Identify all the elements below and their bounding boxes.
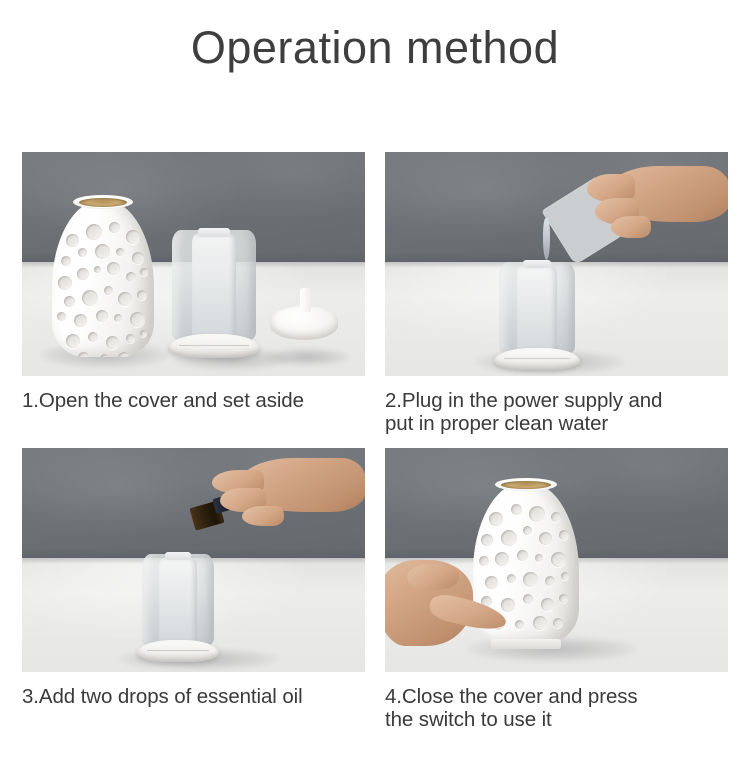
step-caption-3: 3.Add two drops of essential oil <box>22 672 365 709</box>
tank-inner-column <box>517 266 557 352</box>
hand <box>208 454 365 540</box>
step-cell-2: 2.Plug in the power supply and put in pr… <box>385 152 728 436</box>
step-photo-3 <box>22 448 365 672</box>
step-photo-1 <box>22 152 365 376</box>
water-tank <box>170 224 258 356</box>
tank-base <box>137 640 219 662</box>
tank-handle-tab <box>165 552 191 560</box>
step-cell-3: 3.Add two drops of essential oil <box>22 448 365 732</box>
step-cell-4: 4.Close the cover and press the switch t… <box>385 448 728 732</box>
step-caption-1: 1.Open the cover and set aside <box>22 376 365 413</box>
cover-body <box>52 200 154 357</box>
page-title: Operation method <box>0 0 750 73</box>
step-photo-4 <box>385 448 728 672</box>
cap-shadow <box>264 348 350 366</box>
finger-middle <box>611 216 651 238</box>
cover-gold-rim <box>79 198 127 207</box>
step-caption-4: 4.Close the cover and press the switch t… <box>385 672 728 732</box>
finger-middle <box>242 506 284 526</box>
tank-base <box>168 334 260 358</box>
steps-grid: 1.Open the cover and set aside <box>22 152 728 732</box>
mist-cap <box>270 288 338 342</box>
cover-gold-rim <box>501 481 551 489</box>
tank-inner-column <box>159 558 197 644</box>
tank-base <box>494 348 580 370</box>
tank-handle-tab <box>198 228 230 237</box>
cover-dot-pattern <box>52 200 154 357</box>
mist-cap-spout <box>300 288 311 312</box>
hand <box>385 548 527 652</box>
hand <box>581 160 728 256</box>
ceramic-cover <box>52 200 154 357</box>
step-cell-1: 1.Open the cover and set aside <box>22 152 365 436</box>
water-tank <box>140 548 216 660</box>
step-caption-2: 2.Plug in the power supply and put in pr… <box>385 376 728 436</box>
tank-handle-tab <box>523 260 551 268</box>
tank-inner-column <box>192 234 236 338</box>
finger-thumb <box>407 564 459 590</box>
water-tank <box>497 256 577 368</box>
step-photo-2 <box>385 152 728 376</box>
